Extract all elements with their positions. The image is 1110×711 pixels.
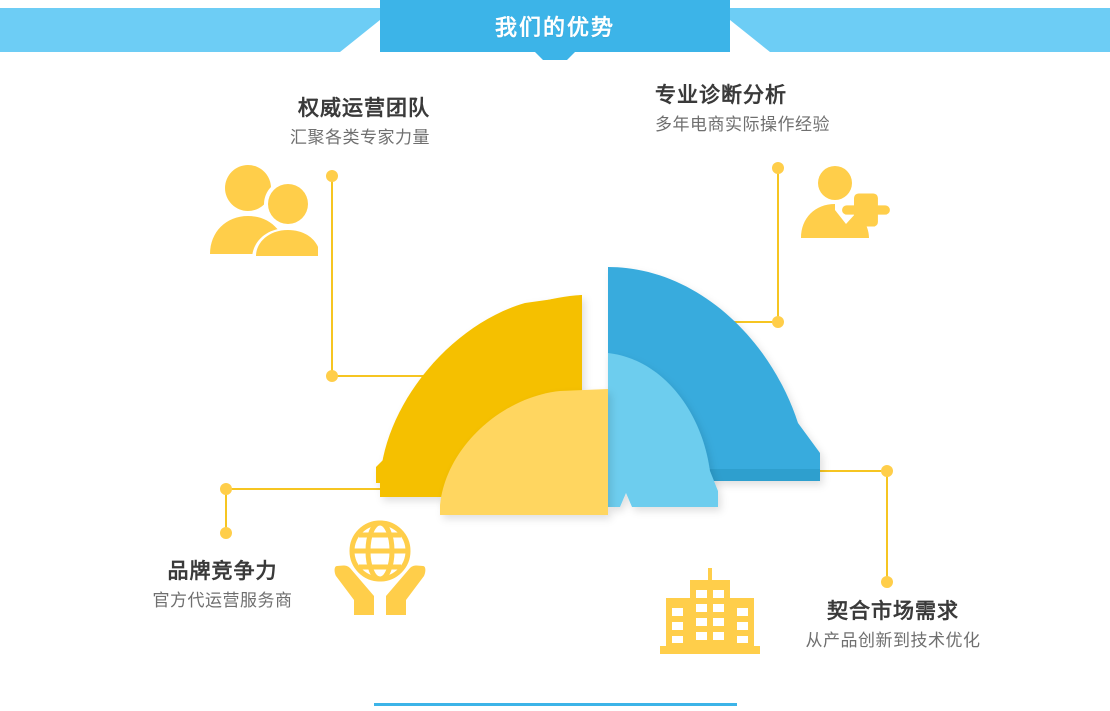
feature-subtitle: 从产品创新到技术优化 <box>768 630 1018 653</box>
connector-dot-top-right-top <box>772 162 784 174</box>
window <box>696 632 707 640</box>
feature-title: 专业诊断分析 <box>655 82 975 110</box>
feature-title: 权威运营团队 <box>140 95 430 123</box>
window <box>713 618 724 626</box>
feature-label-market-fit: 契合市场需求 从产品创新到技术优化 <box>768 598 1018 653</box>
connector-dot-top-left-top <box>326 170 338 182</box>
connector-dot-bottom-left-end <box>220 527 232 539</box>
window <box>713 604 724 612</box>
feature-label-brand-competitiveness: 品牌竞争力 官方代运营服务商 <box>115 558 330 613</box>
building-base <box>660 646 760 654</box>
office-building-icon <box>660 568 760 654</box>
globe-in-hands-icon <box>334 518 426 618</box>
connector-dot-bottom-right-end <box>881 576 893 588</box>
connector-dot-bottom-right-corner <box>881 465 893 477</box>
connector-dot-bottom-left-corner <box>220 483 232 495</box>
footer-rule <box>374 703 737 706</box>
window <box>672 622 683 630</box>
central-fan-graphic <box>350 255 870 540</box>
feature-subtitle: 汇聚各类专家力量 <box>140 127 430 150</box>
window <box>737 636 748 643</box>
advantages-infographic: 我们的优势 <box>0 0 1110 711</box>
window <box>672 636 683 643</box>
person-small-head <box>268 184 308 224</box>
window <box>696 618 707 626</box>
feature-label-professional-diagnosis: 专业诊断分析 多年电商实际操作经验 <box>655 82 975 137</box>
window <box>713 632 724 640</box>
hand-right <box>386 566 425 616</box>
banner-title: 我们的优势 <box>0 0 1110 52</box>
add-person-icon <box>798 166 902 242</box>
feature-subtitle: 官方代运营服务商 <box>115 590 330 613</box>
hand-left <box>335 566 374 616</box>
connector-dot-top-left-bottom <box>326 370 338 382</box>
window <box>737 622 748 630</box>
window <box>672 608 683 616</box>
add-person-head <box>818 166 852 200</box>
feature-subtitle: 多年电商实际操作经验 <box>655 114 975 137</box>
feature-title: 契合市场需求 <box>768 598 1018 626</box>
window <box>696 604 707 612</box>
header-banner: 我们的优势 <box>0 0 1110 60</box>
two-people-icon <box>206 164 318 256</box>
window <box>737 608 748 616</box>
building-antenna <box>708 568 712 580</box>
window <box>713 590 724 598</box>
feature-label-authoritative-team: 权威运营团队 汇聚各类专家力量 <box>140 95 430 150</box>
window <box>696 590 707 598</box>
feature-title: 品牌竞争力 <box>115 558 330 586</box>
